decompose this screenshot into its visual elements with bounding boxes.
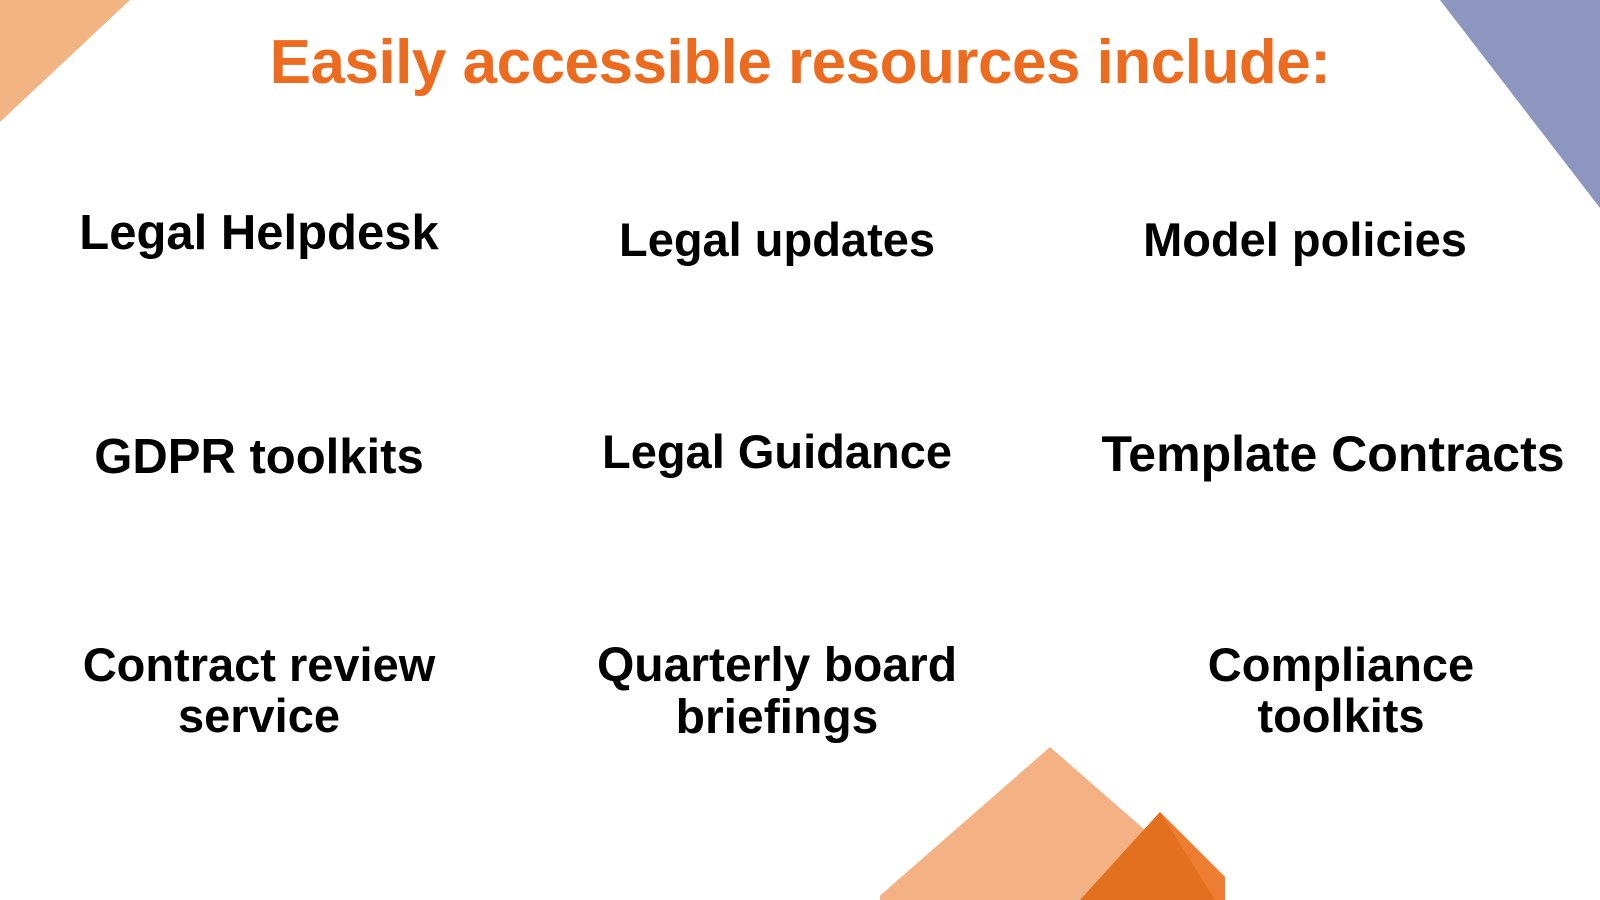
resource-grid: Legal Helpdesk Legal updates Model polic… xyxy=(0,180,1600,830)
resource-item-compliance-toolkits[interactable]: Compliance toolkits xyxy=(1036,630,1600,830)
resource-item-quarterly-board-briefings[interactable]: Quarterly board briefings xyxy=(518,630,1036,830)
resource-item-template-contracts[interactable]: Template Contracts xyxy=(1036,405,1600,630)
resource-item-legal-helpdesk[interactable]: Legal Helpdesk xyxy=(0,180,518,405)
resource-item-model-policies[interactable]: Model policies xyxy=(1036,180,1600,405)
resource-item-legal-updates[interactable]: Legal updates xyxy=(518,180,1036,405)
page-title: Easily accessible resources include: xyxy=(0,18,1600,108)
resource-item-legal-guidance[interactable]: Legal Guidance xyxy=(518,405,1036,630)
resource-item-gdpr-toolkits[interactable]: GDPR toolkits xyxy=(0,405,518,630)
resource-item-contract-review-service[interactable]: Contract review service xyxy=(0,630,518,830)
slide-canvas: Easily accessible resources include: Leg… xyxy=(0,0,1600,900)
